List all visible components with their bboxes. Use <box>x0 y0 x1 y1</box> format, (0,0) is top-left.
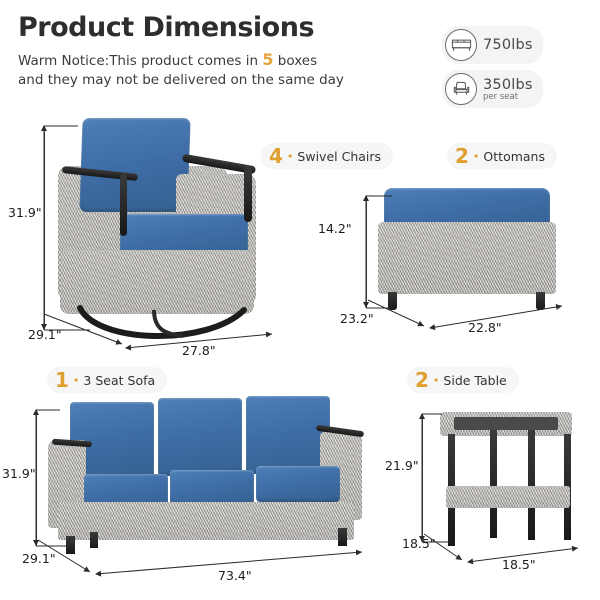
warm-notice: Warm Notice:This product comes in 5 boxe… <box>18 49 448 90</box>
seat-weight-sub: per seat <box>483 93 533 102</box>
label-ottomans: 2 • Ottomans <box>448 144 556 168</box>
armchair-icon <box>445 73 477 105</box>
chair-width-value: 27.8" <box>182 343 216 358</box>
capacity-badges: 750lbs 350lbs per seat <box>442 26 592 114</box>
sofa-icon <box>445 29 477 61</box>
ottoman-image <box>378 188 558 316</box>
chair-height-value: 31.9" <box>8 205 42 220</box>
capacity-badge-sofa-text: 750lbs <box>483 36 533 53</box>
capacity-badge-seat: 350lbs per seat <box>442 70 543 108</box>
label-side-table: 2 • Side Table <box>408 368 518 392</box>
side-table-name: Side Table <box>443 373 506 388</box>
seat-weight-value: 350lbs <box>483 77 533 93</box>
notice-mid: boxes <box>278 53 317 69</box>
swivel-chairs-name: Swivel Chairs <box>297 149 381 164</box>
sofa-weight-value: 750lbs <box>483 37 533 53</box>
swivel-chairs-separator: • <box>287 151 294 162</box>
capacity-badge-seat-text: 350lbs per seat <box>483 76 533 102</box>
sofa-separator: • <box>73 375 80 386</box>
ottoman-width-value: 22.8" <box>468 320 502 335</box>
notice-line-two: and they may not be delivered on the sam… <box>18 72 344 88</box>
notice-prefix: Warm Notice:This product comes in <box>18 53 258 69</box>
sofa-height-value: 31.9" <box>2 466 36 481</box>
label-swivel-chairs: 4 • Swivel Chairs <box>262 144 392 168</box>
sofa-qty: 1 <box>55 370 69 390</box>
label-3-seat-sofa: 1 • 3 Seat Sofa <box>48 368 166 392</box>
chair-depth-value: 29.1" <box>28 327 62 342</box>
side-table-separator: • <box>433 375 440 386</box>
sofa-height-line <box>36 410 37 546</box>
capacity-badge-sofa: 750lbs <box>442 26 543 64</box>
sofa-width-value: 73.4" <box>218 568 252 583</box>
sofa-image <box>48 396 366 558</box>
chair-height-line <box>44 126 45 330</box>
side-table-height-line <box>422 414 423 542</box>
swivel-chairs-qty: 4 <box>269 146 283 166</box>
page-title: Product Dimensions <box>18 14 448 41</box>
ottomans-qty: 2 <box>455 146 469 166</box>
ottomans-name: Ottomans <box>483 149 545 164</box>
swivel-chair-image <box>58 118 268 338</box>
side-table-depth-value: 18.5" <box>402 536 436 551</box>
sofa-depth-value: 29.1" <box>22 551 56 566</box>
ottoman-height-value: 14.2" <box>318 221 352 236</box>
side-table-qty: 2 <box>415 370 429 390</box>
ottoman-depth-value: 23.2" <box>340 311 374 326</box>
notice-box-count: 5 <box>262 50 273 69</box>
ottoman-height-line <box>366 196 367 308</box>
ottomans-separator: • <box>473 151 480 162</box>
product-dimensions-infographic: Product Dimensions Warm Notice:This prod… <box>0 0 600 600</box>
side-table-image <box>432 408 582 550</box>
side-table-width-value: 18.5" <box>502 557 536 572</box>
header: Product Dimensions Warm Notice:This prod… <box>18 14 448 90</box>
sofa-name: 3 Seat Sofa <box>83 373 155 388</box>
side-table-height-value: 21.9" <box>385 458 419 473</box>
